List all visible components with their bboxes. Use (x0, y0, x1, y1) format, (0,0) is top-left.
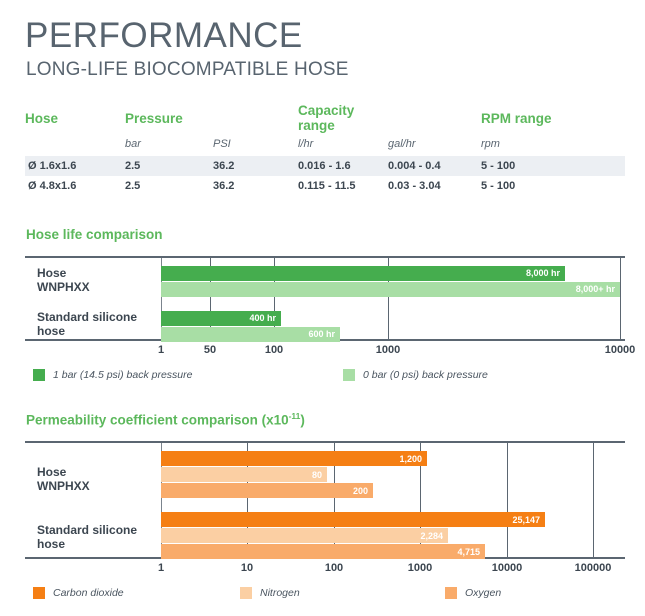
legend-swatch-carbon-dioxide (33, 587, 45, 599)
x-tick: 10000 (605, 344, 636, 356)
bar-n2-silicone: 2,284 (161, 528, 448, 543)
bar-value-label: 4,715 (457, 547, 485, 557)
chart-title-main: Permeability coefficient comparison (x10 (26, 413, 289, 428)
legend-item: 1 bar (14.5 psi) back pressure (33, 369, 192, 381)
bar-n2-hose: 80 (161, 467, 327, 482)
x-tick: 1000 (408, 562, 432, 574)
col-group-capacity: Capacity range (298, 103, 388, 133)
x-tick: 10 (241, 562, 253, 574)
legend-swatch-0bar (343, 369, 355, 381)
legend-item: 0 bar (0 psi) back pressure (343, 369, 488, 381)
legend-swatch-oxygen (445, 587, 457, 599)
category-label: Hose WNPHXX (37, 266, 90, 294)
x-tick: 100 (265, 344, 283, 356)
x-tick: 100000 (575, 562, 612, 574)
col-unit-galhr: gal/hr (388, 138, 481, 150)
cell-lhr: 0.115 - 11.5 (298, 180, 388, 192)
cell-galhr: 0.004 - 0.4 (388, 160, 481, 172)
cell-bar: 2.5 (125, 180, 213, 192)
legend-hose-life: 1 bar (14.5 psi) back pressure 0 bar (0 … (25, 369, 625, 387)
gridline-10000 (507, 443, 508, 557)
gridline-10000 (620, 258, 621, 339)
legend-label: 0 bar (0 psi) back pressure (363, 369, 488, 381)
table-unit-header-row: bar PSI l/hr gal/hr rpm (25, 132, 625, 156)
bar-value-label: 80 (312, 470, 327, 480)
chart-title: Permeability coefficient comparison (x10… (26, 412, 625, 427)
gridline-100000 (593, 443, 594, 557)
legend-label: 1 bar (14.5 psi) back pressure (53, 369, 192, 381)
page-title: PERFORMANCE (25, 18, 303, 53)
col-group-pressure: Pressure (125, 111, 213, 126)
bar-o2-silicone: 4,715 (161, 544, 485, 559)
legend-item: Carbon dioxide (33, 587, 124, 599)
bar-0bar-hose: 8,000+ hr (161, 282, 620, 297)
bar-value-label: 8,000+ hr (576, 284, 620, 294)
cell-psi: 36.2 (213, 180, 298, 192)
cell-psi: 36.2 (213, 160, 298, 172)
legend-label: Carbon dioxide (53, 587, 124, 599)
chart-permeability: Permeability coefficient comparison (x10… (25, 412, 625, 605)
legend-label: Oxygen (465, 587, 501, 599)
cell-galhr: 0.03 - 3.04 (388, 180, 481, 192)
chart-title-tail: ) (300, 413, 305, 428)
bar-co2-silicone: 25,147 (161, 512, 545, 527)
legend-permeability: Carbon dioxide Nitrogen Oxygen (25, 587, 625, 605)
bar-co2-hose: 1,200 (161, 451, 427, 466)
x-tick: 10000 (492, 562, 523, 574)
bar-value-label: 2,284 (420, 531, 448, 541)
spec-table: Hose Pressure Capacity range RPM range b… (25, 104, 625, 196)
cell-hose: Ø 1.6x1.6 (25, 160, 125, 172)
bar-value-label: 400 hr (249, 313, 281, 323)
x-tick: 1 (158, 562, 164, 574)
legend-item: Nitrogen (240, 587, 300, 599)
plot-area-permeability: Hose WNPHXX Standard silicone hose 1,200… (25, 441, 625, 559)
category-label: Standard silicone hose (37, 310, 137, 338)
table-row: Ø 4.8x1.6 2.5 36.2 0.115 - 11.5 0.03 - 3… (25, 176, 625, 196)
legend-swatch-1bar (33, 369, 45, 381)
page-subtitle: LONG-LIFE BIOCOMPATIBLE HOSE (26, 60, 349, 79)
chart-title: Hose life comparison (26, 228, 625, 242)
cell-rpm: 5 - 100 (481, 160, 581, 172)
col-unit-bar: bar (125, 138, 213, 150)
bar-value-label: 1,200 (399, 454, 427, 464)
col-group-hose: Hose (25, 111, 125, 126)
bar-1bar-hose: 8,000 hr (161, 266, 565, 281)
bar-0bar-silicone: 600 hr (161, 327, 340, 342)
bar-value-label: 200 (353, 486, 373, 496)
legend-swatch-nitrogen (240, 587, 252, 599)
table-group-header-row: Hose Pressure Capacity range RPM range (25, 104, 625, 132)
category-label: Hose WNPHXX (37, 465, 90, 493)
col-unit-psi: PSI (213, 138, 298, 150)
x-axis-ticks-permeability: 1 10 100 1000 10000 100000 (25, 559, 625, 577)
col-unit-rpm: rpm (481, 138, 581, 150)
x-axis-ticks-hose-life: 1 50 100 1000 10000 (25, 341, 625, 359)
cell-lhr: 0.016 - 1.6 (298, 160, 388, 172)
x-tick: 1000 (376, 344, 400, 356)
legend-label: Nitrogen (260, 587, 300, 599)
legend-item: Oxygen (445, 587, 501, 599)
table-row: Ø 1.6x1.6 2.5 36.2 0.016 - 1.6 0.004 - 0… (25, 156, 625, 176)
cell-hose: Ø 4.8x1.6 (25, 180, 125, 192)
bar-value-label: 8,000 hr (526, 268, 565, 278)
chart-title-exponent: -11 (289, 411, 301, 421)
category-label: Standard silicone hose (37, 523, 137, 551)
bar-1bar-silicone: 400 hr (161, 311, 281, 326)
col-unit-lhr: l/hr (298, 138, 388, 150)
cell-bar: 2.5 (125, 160, 213, 172)
x-tick: 100 (325, 562, 343, 574)
plot-area-hose-life: Hose WNPHXX Standard silicone hose 8,000… (25, 256, 625, 341)
cell-rpm: 5 - 100 (481, 180, 581, 192)
bar-value-label: 600 hr (308, 329, 340, 339)
col-group-rpm: RPM range (481, 111, 581, 126)
bar-o2-hose: 200 (161, 483, 373, 498)
bar-value-label: 25,147 (512, 515, 545, 525)
x-tick: 1 (158, 344, 164, 356)
chart-hose-life: Hose life comparison Hose WNPHXX Standar… (25, 228, 625, 387)
x-tick: 50 (204, 344, 216, 356)
